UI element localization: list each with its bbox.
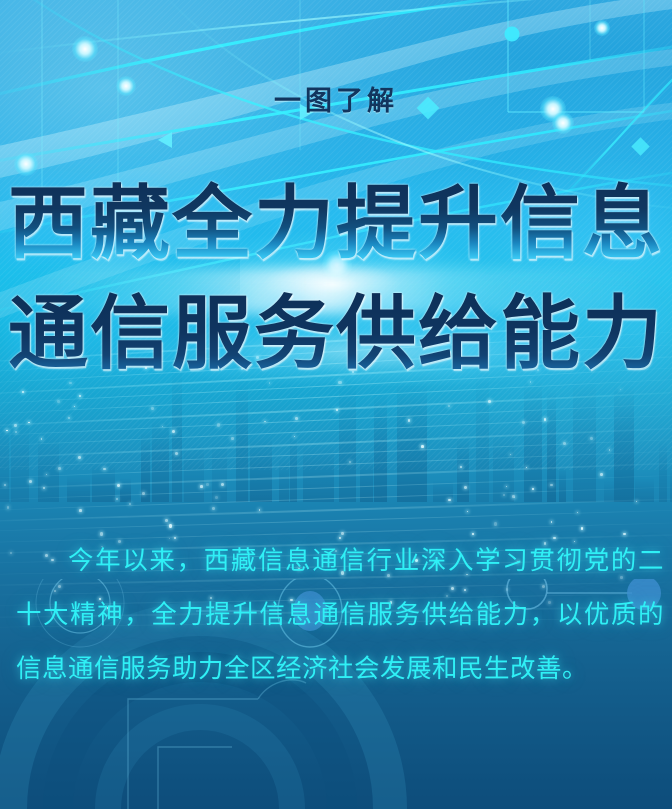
kicker-label: 一图了解 xyxy=(0,88,672,115)
glow-dot xyxy=(14,152,38,176)
glow-dot xyxy=(72,36,98,62)
glow-dot xyxy=(552,112,574,134)
title-line-2-text: 通信服务供给能力 xyxy=(8,286,664,382)
infographic-poster: 一图了解 西藏全力提升信息 西藏全力提升信息 通信服务供给能力 通信服务供给能力… xyxy=(0,0,672,809)
title-line-1-text: 西藏全力提升信息 xyxy=(8,176,664,272)
glow-dot xyxy=(594,20,610,36)
page-title-line-1: 西藏全力提升信息 西藏全力提升信息 xyxy=(0,176,672,272)
page-title-line-2: 通信服务供给能力 通信服务供给能力 xyxy=(0,286,672,382)
body-paragraph: 今年以来，西藏信息通信行业深入学习贯彻党的二十大精神，全力提升信息通信服务供给能… xyxy=(16,534,664,696)
